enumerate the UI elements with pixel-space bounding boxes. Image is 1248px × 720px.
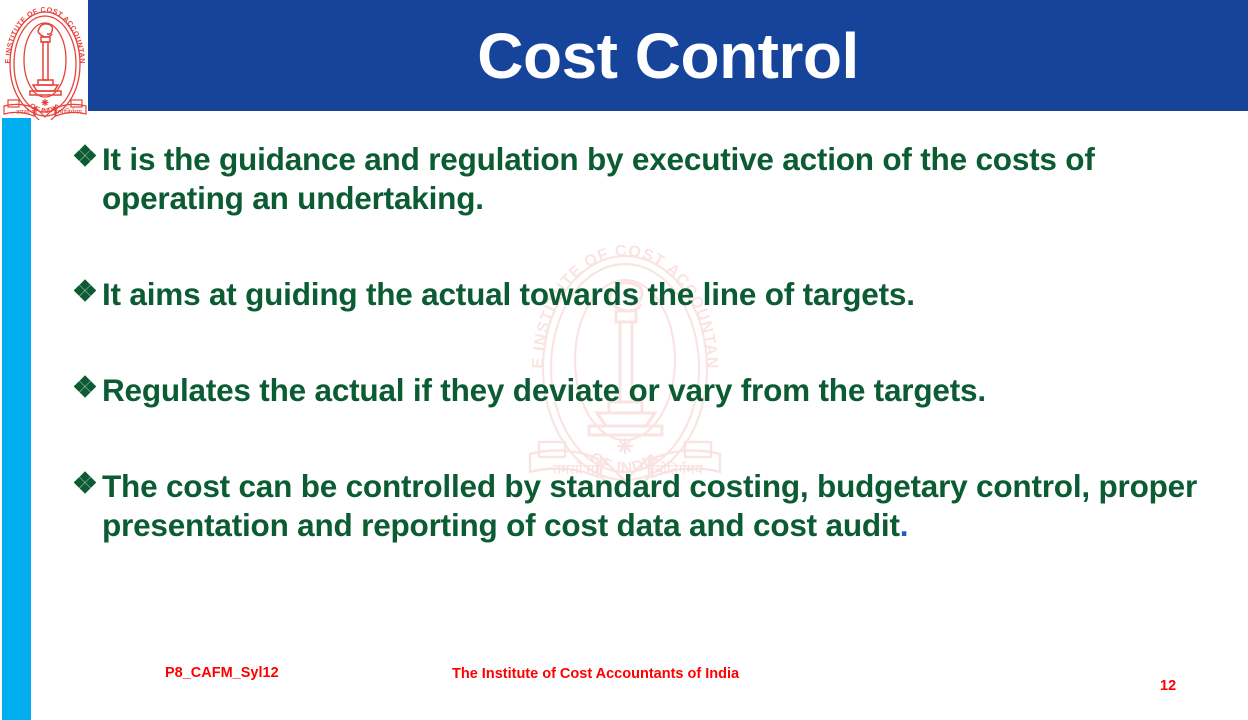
bullet-text-period: . — [900, 507, 909, 543]
svg-text:ज्योतिर्गमय: ज्योतिर्गमय — [56, 108, 82, 116]
footer-subject-code: P8_CAFM_Syl12 — [165, 665, 279, 681]
list-item: ❖ It aims at guiding the actual towards … — [72, 275, 1202, 314]
page-title: Cost Control — [88, 0, 1248, 111]
footer-page-number: 12 — [1160, 678, 1176, 694]
bullet-text: It aims at guiding the actual towards th… — [102, 275, 1202, 314]
bullet-text: It is the guidance and regulation by exe… — [102, 140, 1202, 218]
diamond-bullet-icon: ❖ — [72, 371, 102, 407]
diamond-bullet-icon: ❖ — [72, 275, 102, 311]
list-item: ❖ It is the guidance and regulation by e… — [72, 140, 1202, 218]
institute-logo: THE INSTITUTE OF COST ACCOUNTANTS OF IND… — [2, 2, 88, 120]
left-accent-strip — [2, 118, 31, 720]
bullet-text-main: The cost can be controlled by standard c… — [102, 468, 1197, 543]
bullet-text: Regulates the actual if they deviate or … — [102, 371, 1202, 410]
bullet-list: ❖ It is the guidance and regulation by e… — [72, 140, 1202, 545]
list-item: ❖ The cost can be controlled by standard… — [72, 467, 1202, 545]
diamond-bullet-icon: ❖ — [72, 140, 102, 176]
list-item: ❖ Regulates the actual if they deviate o… — [72, 371, 1202, 410]
bullet-text: The cost can be controlled by standard c… — [102, 467, 1202, 545]
svg-text:तमसो मा: तमसो मा — [16, 108, 37, 116]
footer-organisation: The Institute of Cost Accountants of Ind… — [452, 666, 739, 682]
diamond-bullet-icon: ❖ — [72, 467, 102, 503]
slide-canvas: Cost Control THE INSTITUTE OF COST ACCOU… — [0, 0, 1248, 720]
